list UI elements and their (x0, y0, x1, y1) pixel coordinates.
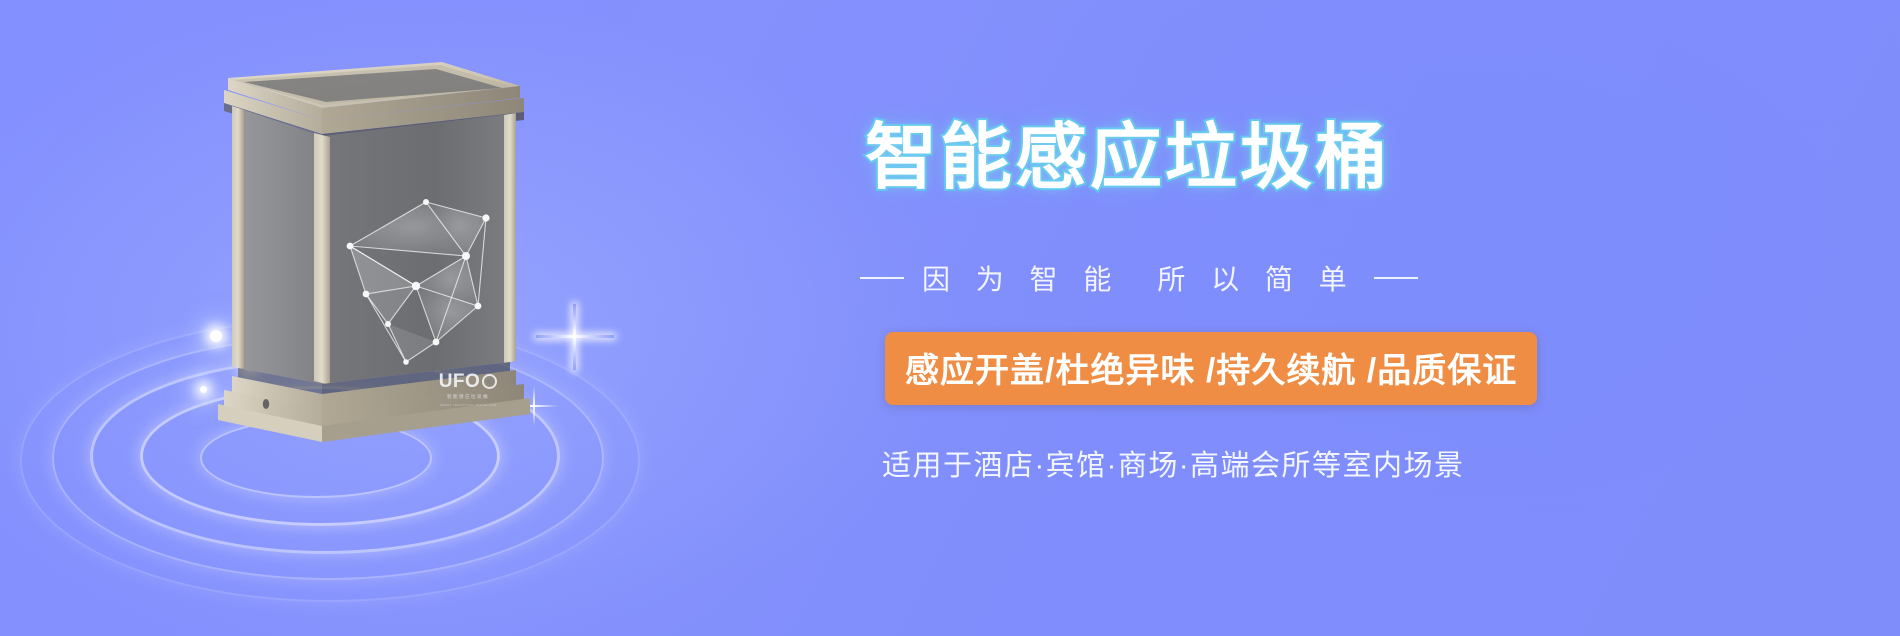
trash-bin-product: UFO 智能感应垃圾桶 SMART INDUCTION TRASH CAN (210, 50, 530, 450)
bin-right-edge-pillar (504, 113, 516, 363)
banner-headline: 智能感应垃圾桶 (865, 122, 1390, 194)
banner-subtitle: 因 为 智 能 所 以 简 单 (860, 258, 1460, 298)
trash-bin-svg (210, 50, 530, 450)
bin-left-edge-pillar (232, 106, 244, 370)
bin-corner-pillar (314, 133, 330, 385)
sparkle-star-1 (572, 334, 576, 338)
product-illustration: UFO 智能感应垃圾桶 SMART INDUCTION TRASH CAN (60, 10, 740, 626)
bin-body-left-face (238, 108, 322, 384)
application-scenes-text: 适用于酒店·宾馆·商场·高端会所等室内场景 (882, 442, 1464, 484)
sparkle-star-2 (532, 404, 535, 407)
promo-banner: UFO 智能感应垃圾桶 SMART INDUCTION TRASH CAN 智能… (0, 0, 1900, 636)
subtitle-dash-right (1374, 277, 1418, 279)
bin-base-lock (263, 399, 269, 409)
subtitle-text: 因 为 智 能 所 以 简 单 (922, 258, 1356, 298)
glow-dot-3 (200, 386, 207, 393)
banner-copy: 智能感应垃圾桶 因 为 智 能 所 以 简 单 感应开盖/杜绝异味 /持久续航 … (860, 0, 1860, 636)
feature-highlight-pill: 感应开盖/杜绝异味 /持久续航 /品质保证 (885, 332, 1537, 405)
subtitle-dash-left (860, 277, 904, 279)
